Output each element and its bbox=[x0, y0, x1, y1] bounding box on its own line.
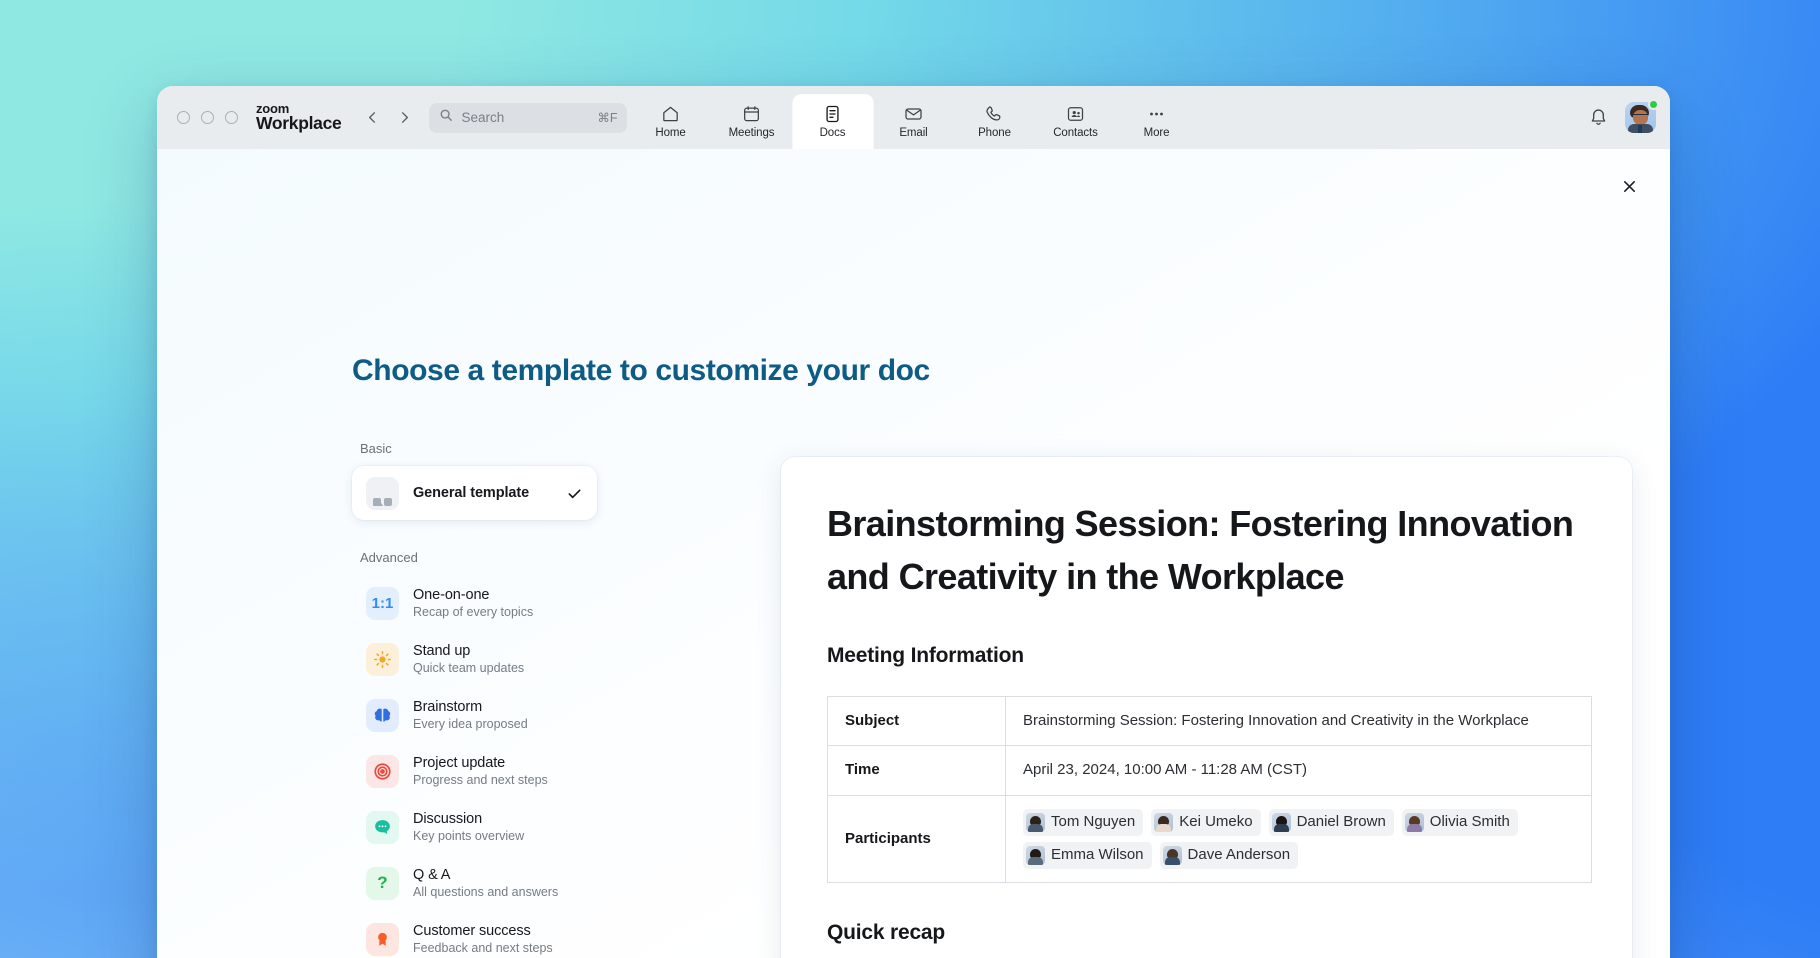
participant-name: Kei Umeko bbox=[1179, 811, 1252, 834]
sidebar-item-customer-success-label: Customer success bbox=[413, 923, 583, 939]
avatar[interactable] bbox=[1625, 102, 1656, 133]
table-row: Time April 23, 2024, 10:00 AM - 11:28 AM… bbox=[828, 746, 1592, 796]
tab-home-label: Home bbox=[655, 127, 685, 139]
section-heading-meeting-information: Meeting Information bbox=[827, 644, 1586, 668]
history-nav bbox=[359, 105, 417, 131]
one-on-one-icon: 1:1 bbox=[366, 587, 399, 620]
page-title: Choose a template to customize your doc bbox=[352, 354, 930, 388]
forward-arrow-icon[interactable] bbox=[391, 105, 417, 131]
ribbon-icon bbox=[366, 923, 399, 956]
table-row: Participants Tom Nguyen Kei Umeko bbox=[828, 796, 1592, 883]
sidebar-item-one-on-one-desc: Recap of every topics bbox=[413, 605, 583, 619]
question-mark-icon: ? bbox=[366, 867, 399, 900]
avatar bbox=[1163, 846, 1182, 865]
sidebar-item-project-update[interactable]: Project update Progress and next steps bbox=[352, 743, 597, 799]
sidebar-item-q-and-a[interactable]: ? Q & A All questions and answers bbox=[352, 855, 597, 911]
participant-name: Daniel Brown bbox=[1297, 811, 1386, 834]
ellipsis-icon bbox=[1147, 104, 1167, 124]
tab-email[interactable]: Email bbox=[873, 94, 954, 149]
sidebar-item-general-template[interactable]: General template bbox=[352, 466, 597, 520]
phone-icon bbox=[985, 104, 1005, 124]
home-icon bbox=[661, 104, 681, 124]
tab-home[interactable]: Home bbox=[630, 94, 711, 149]
advanced-template-list: 1:1 One-on-one Recap of every topics Sta… bbox=[352, 575, 597, 958]
tab-contacts-label: Contacts bbox=[1053, 127, 1098, 139]
template-chooser-modal: Choose a template to customize your doc … bbox=[157, 149, 1670, 958]
sidebar-item-customer-success-desc: Feedback and next steps bbox=[413, 941, 583, 955]
participant-name: Olivia Smith bbox=[1430, 811, 1510, 834]
document-preview-card: Brainstorming Session: Fostering Innovat… bbox=[781, 457, 1632, 958]
close-icon[interactable] bbox=[1614, 171, 1644, 201]
tab-docs[interactable]: Docs bbox=[792, 94, 873, 149]
participant-chip[interactable]: Kei Umeko bbox=[1151, 809, 1260, 836]
avatar bbox=[1405, 813, 1424, 832]
avatar bbox=[1026, 813, 1045, 832]
table-cell-value-participants: Tom Nguyen Kei Umeko Daniel Brown bbox=[1006, 796, 1592, 883]
sidebar-item-brainstorm-label: Brainstorm bbox=[413, 699, 583, 715]
sidebar-item-stand-up-label: Stand up bbox=[413, 643, 583, 659]
sidebar-item-discussion-label: Discussion bbox=[413, 811, 583, 827]
participant-chip[interactable]: Daniel Brown bbox=[1269, 809, 1394, 836]
sidebar-item-brainstorm[interactable]: Brainstorm Every idea proposed bbox=[352, 687, 597, 743]
app-logo: zoom Workplace bbox=[256, 102, 341, 133]
main-nav-tabs: Home Meetings Docs Email Phone bbox=[630, 86, 1197, 149]
table-row: Subject Brainstorming Session: Fostering… bbox=[828, 696, 1592, 746]
sidebar-item-discussion[interactable]: Discussion Key points overview bbox=[352, 799, 597, 855]
participant-chip[interactable]: Dave Anderson bbox=[1160, 842, 1299, 869]
bell-icon[interactable] bbox=[1588, 107, 1609, 128]
title-bar: zoom Workplace Search ⌘F bbox=[157, 86, 1670, 149]
participant-chip[interactable]: Emma Wilson bbox=[1023, 842, 1152, 869]
status-badge-online bbox=[1648, 99, 1659, 110]
zoom-workplace-window: zoom Workplace Search ⌘F bbox=[157, 86, 1670, 958]
sidebar-item-one-on-one[interactable]: 1:1 One-on-one Recap of every topics bbox=[352, 575, 597, 631]
participant-chip-list: Tom Nguyen Kei Umeko Daniel Brown bbox=[1023, 809, 1574, 869]
participant-name: Emma Wilson bbox=[1051, 844, 1144, 867]
participant-chip[interactable]: Tom Nguyen bbox=[1023, 809, 1143, 836]
maximize-window-button[interactable] bbox=[225, 111, 238, 124]
sidebar-item-project-update-label: Project update bbox=[413, 755, 583, 771]
avatar bbox=[1272, 813, 1291, 832]
participant-chip[interactable]: Olivia Smith bbox=[1402, 809, 1518, 836]
tab-more[interactable]: More bbox=[1116, 94, 1197, 149]
sidebar-item-stand-up-desc: Quick team updates bbox=[413, 661, 583, 675]
sidebar-item-customer-success[interactable]: Customer success Feedback and next steps bbox=[352, 911, 597, 958]
general-template-icon bbox=[366, 477, 399, 510]
sidebar-item-discussion-desc: Key points overview bbox=[413, 829, 583, 843]
sun-icon bbox=[366, 643, 399, 676]
table-cell-value-time: April 23, 2024, 10:00 AM - 11:28 AM (CST… bbox=[1006, 746, 1592, 796]
tab-meetings[interactable]: Meetings bbox=[711, 94, 792, 149]
tab-phone[interactable]: Phone bbox=[954, 94, 1035, 149]
sidebar-item-q-and-a-desc: All questions and answers bbox=[413, 885, 583, 899]
section-heading-quick-recap: Quick recap bbox=[827, 921, 1586, 945]
document-icon bbox=[823, 104, 843, 124]
calendar-icon bbox=[742, 104, 762, 124]
group-label-basic: Basic bbox=[360, 441, 597, 456]
desktop-background: zoom Workplace Search ⌘F bbox=[0, 0, 1820, 958]
sidebar-item-stand-up[interactable]: Stand up Quick team updates bbox=[352, 631, 597, 687]
chat-bubble-icon bbox=[366, 811, 399, 844]
sidebar-item-q-and-a-label: Q & A bbox=[413, 867, 583, 883]
table-cell-value-subject: Brainstorming Session: Fostering Innovat… bbox=[1006, 696, 1592, 746]
participant-name: Tom Nguyen bbox=[1051, 811, 1135, 834]
search-shortcut: ⌘F bbox=[597, 110, 617, 125]
tab-contacts[interactable]: Contacts bbox=[1035, 94, 1116, 149]
sidebar-item-brainstorm-desc: Every idea proposed bbox=[413, 717, 583, 731]
check-icon bbox=[566, 485, 583, 502]
contacts-icon bbox=[1066, 104, 1086, 124]
avatar bbox=[1154, 813, 1173, 832]
window-controls[interactable] bbox=[177, 111, 238, 124]
tab-docs-label: Docs bbox=[820, 127, 846, 139]
brand-workplace: Workplace bbox=[256, 115, 341, 133]
back-arrow-icon[interactable] bbox=[359, 105, 385, 131]
titlebar-right-cluster bbox=[1588, 86, 1656, 149]
table-cell-key-participants: Participants bbox=[828, 796, 1006, 883]
search-placeholder: Search bbox=[461, 110, 589, 125]
sidebar-item-project-update-desc: Progress and next steps bbox=[413, 773, 583, 787]
search-icon bbox=[439, 108, 453, 127]
tab-email-label: Email bbox=[899, 127, 927, 139]
brain-icon bbox=[366, 699, 399, 732]
target-icon bbox=[366, 755, 399, 788]
sidebar-item-one-on-one-label: One-on-one bbox=[413, 587, 583, 603]
close-window-button[interactable] bbox=[177, 111, 190, 124]
table-cell-key-subject: Subject bbox=[828, 696, 1006, 746]
minimize-window-button[interactable] bbox=[201, 111, 214, 124]
search-input[interactable]: Search ⌘F bbox=[429, 103, 627, 133]
tab-phone-label: Phone bbox=[978, 127, 1011, 139]
meeting-information-table: Subject Brainstorming Session: Fostering… bbox=[827, 696, 1592, 883]
tab-meetings-label: Meetings bbox=[729, 127, 775, 139]
envelope-icon bbox=[904, 104, 924, 124]
template-sidebar: Basic General template Ad bbox=[352, 441, 597, 958]
sidebar-item-general-template-label: General template bbox=[413, 485, 552, 501]
tab-more-label: More bbox=[1144, 127, 1170, 139]
participant-name: Dave Anderson bbox=[1188, 844, 1291, 867]
group-label-advanced: Advanced bbox=[360, 550, 597, 565]
avatar bbox=[1026, 846, 1045, 865]
table-cell-key-time: Time bbox=[828, 746, 1006, 796]
document-title: Brainstorming Session: Fostering Innovat… bbox=[827, 497, 1586, 604]
